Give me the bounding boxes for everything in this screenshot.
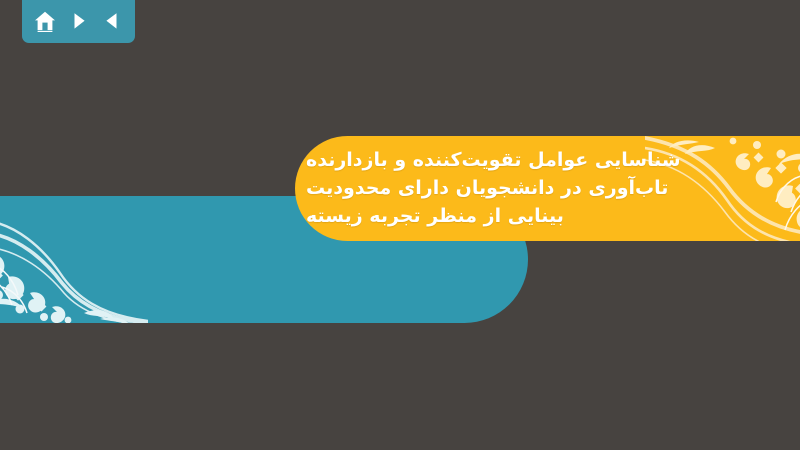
navigation-toolbar [22,0,135,43]
home-slide-button[interactable] [31,7,59,35]
arabesque-corner-ornament [645,136,800,241]
triangle-left-icon [102,11,122,31]
presentation-slide: شناسایی عوامل تقویت‌کننده و بازدارنده تا… [0,0,800,450]
arabesque-corner-ornament [0,203,148,323]
home-icon [34,11,56,32]
next-slide-button[interactable] [65,7,93,35]
yellow-banner [295,136,800,241]
triangle-right-icon [69,11,89,31]
previous-slide-button[interactable] [98,7,126,35]
